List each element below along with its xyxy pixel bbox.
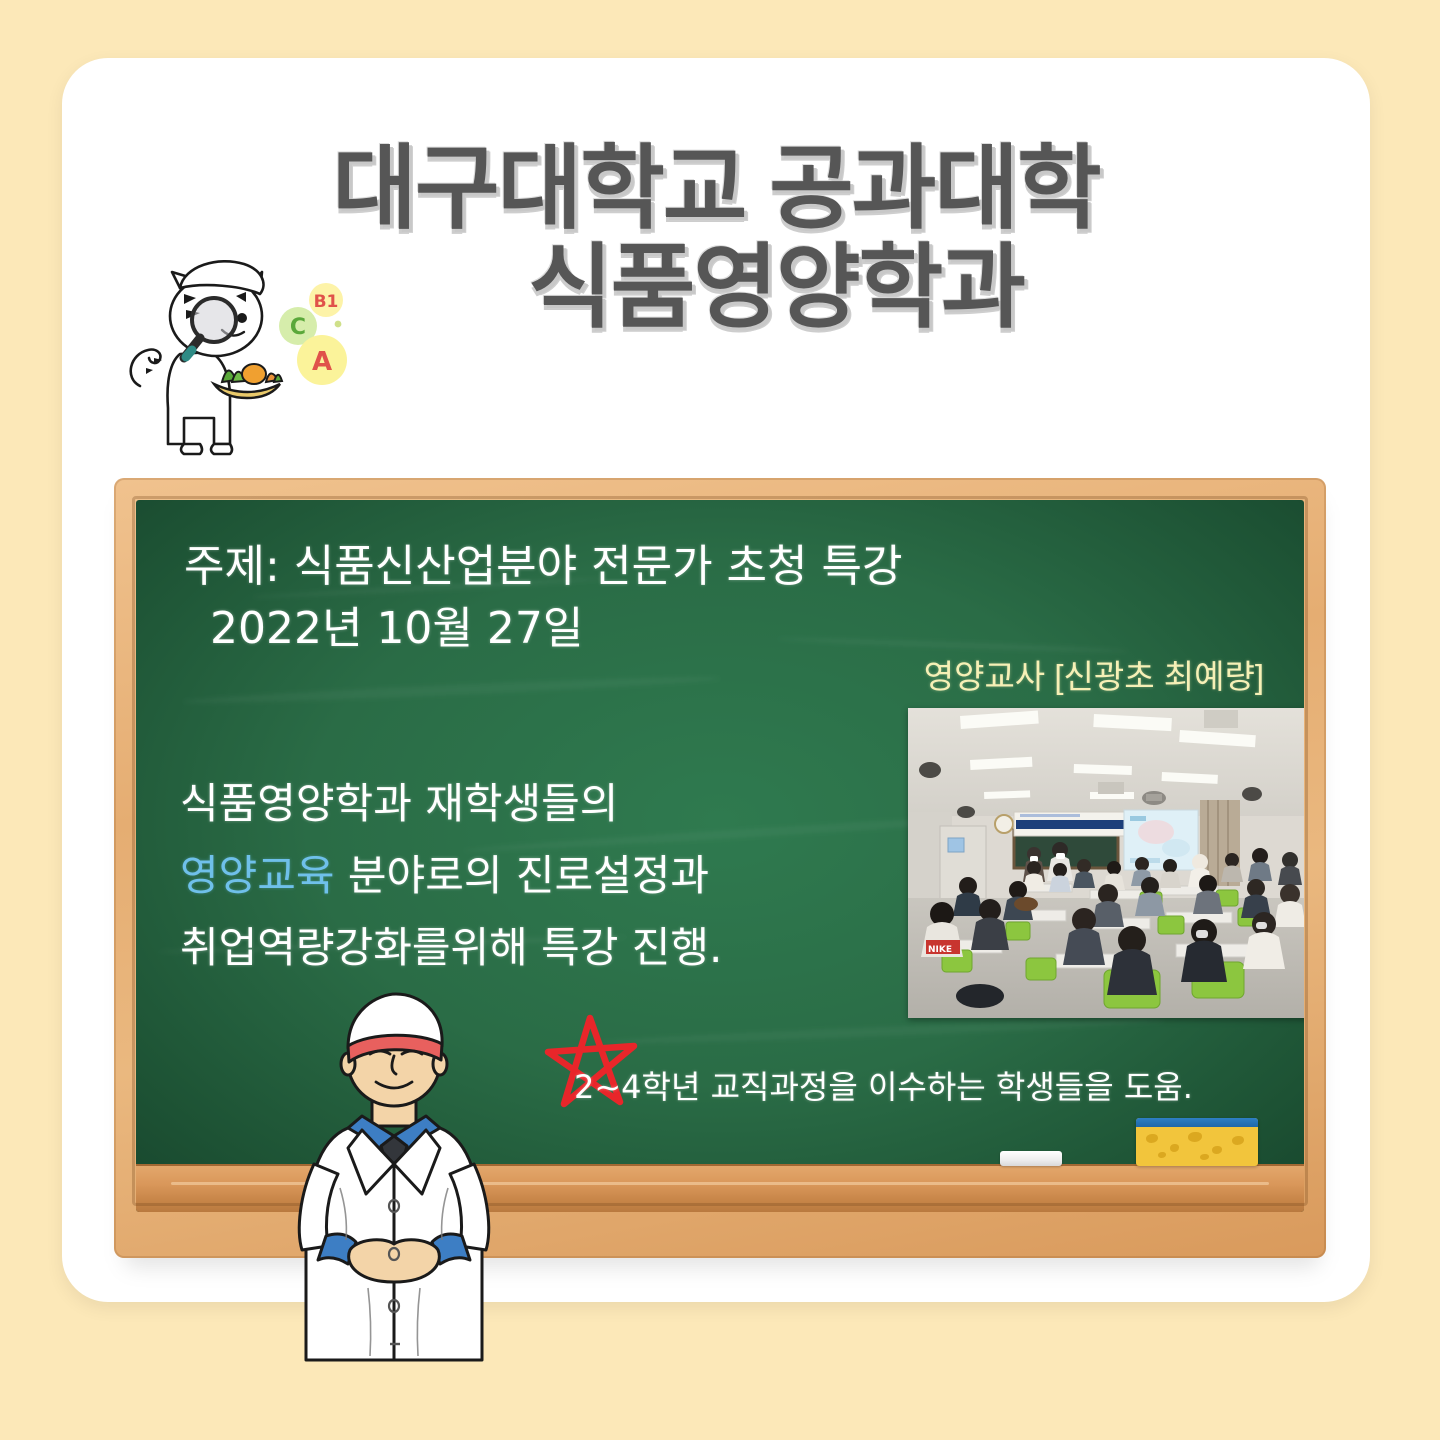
footnote-text: 2~4학년 교직과정을 이수하는 학생들을 도움. xyxy=(574,1062,1193,1108)
description-line-2-rest: 분야로의 진로설정과 xyxy=(335,851,709,900)
poster-canvas: 대구대학교 공과대학 식품영양학과 xyxy=(0,0,1440,1440)
sponge-eraser-icon xyxy=(1136,1118,1258,1166)
description-line-1: 식품영양학과 재학생들의 xyxy=(180,768,722,840)
vitamin-c-label: C xyxy=(290,315,306,340)
description-block: 식품영양학과 재학생들의 영양교육 분야로의 진로설정과 취업역량강화를위해 특… xyxy=(180,768,722,985)
chalk-stick-icon xyxy=(1000,1151,1062,1166)
topic-block: 주제: 식품신산업분야 전문가 초청 특강 2022년 10월 27일 xyxy=(184,536,902,661)
svg-text:NIKE: NIKE xyxy=(928,945,952,955)
description-line-3: 취업역량강화를위해 특강 진행. xyxy=(180,912,722,984)
chalk-smear xyxy=(603,1016,1164,1047)
tiger-mascot-icon: B1 C A xyxy=(122,258,362,468)
title-line-university: 대구대학교 공과대학 xyxy=(62,140,1370,239)
nutritionist-chef-character xyxy=(244,988,544,1378)
description-line-2: 영양교육 분야로의 진로설정과 xyxy=(180,840,722,912)
vitamin-a-label: A xyxy=(312,347,332,377)
speaker-caption: 영양교사 [신광초 최예량] xyxy=(924,650,1264,698)
content-card: 대구대학교 공과대학 식품영양학과 xyxy=(62,58,1370,1302)
event-date: 2022년 10월 27일 xyxy=(184,598,902,660)
vitamin-b1-label: B1 xyxy=(314,292,339,312)
topic-label: 주제: 식품신산업분야 전문가 초청 특강 xyxy=(184,541,902,592)
chalk-smear xyxy=(183,673,720,706)
lecture-hall-photo: NIKE xyxy=(908,708,1304,1018)
highlight-nutrition-education: 영양교육 xyxy=(180,851,335,900)
